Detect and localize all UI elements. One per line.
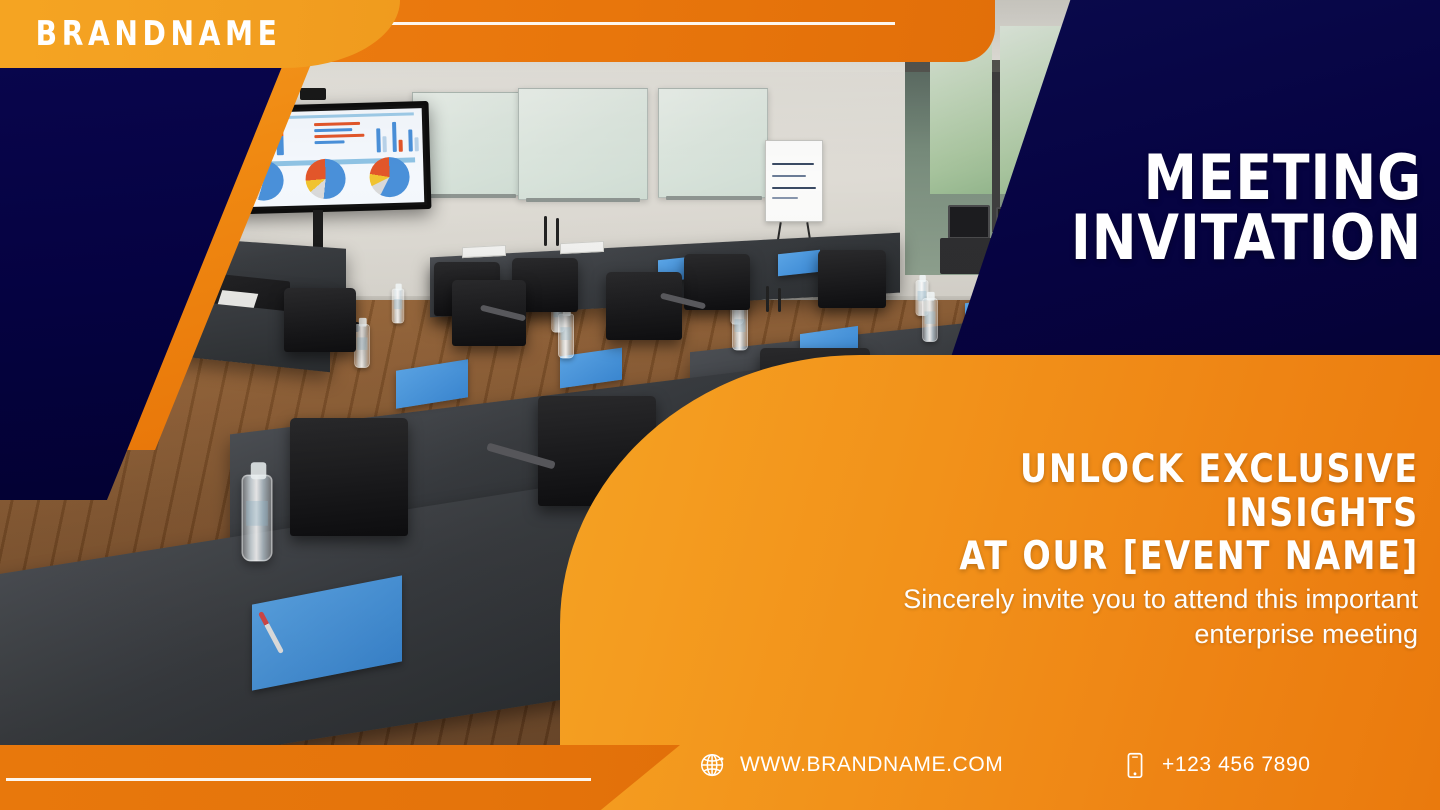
brand-name: BRANDNAME bbox=[36, 14, 282, 54]
phone-contact[interactable]: +123 456 7890 bbox=[1120, 750, 1311, 780]
title-line-2: INVITATION bbox=[1017, 208, 1422, 268]
phone-text: +123 456 7890 bbox=[1162, 753, 1311, 777]
headline-block: UNLOCK EXCLUSIVE INSIGHTS AT OUR [EVENT … bbox=[870, 448, 1440, 579]
brand-badge: BRANDNAME bbox=[0, 0, 400, 68]
globe-icon bbox=[698, 750, 728, 780]
headline-line-1: UNLOCK EXCLUSIVE INSIGHTS bbox=[870, 448, 1419, 535]
bottom-strip-rule bbox=[6, 778, 591, 781]
subtitle-block: Sincerely invite you to attend this impo… bbox=[790, 582, 1440, 652]
subtitle-line-1: Sincerely invite you to attend this impo… bbox=[790, 582, 1418, 617]
top-bar-rule bbox=[380, 22, 895, 25]
headline-line-2: AT OUR [EVENT NAME] bbox=[870, 535, 1419, 579]
title-line-1: MEETING bbox=[1017, 148, 1422, 208]
subtitle-line-2: enterprise meeting bbox=[790, 617, 1418, 652]
mobile-phone-icon bbox=[1120, 750, 1150, 780]
website-text: WWW.BRANDNAME.COM bbox=[740, 753, 1003, 777]
website-contact[interactable]: WWW.BRANDNAME.COM bbox=[698, 750, 1003, 780]
poster-canvas: BRANDNAME MEETING INVITATION UNLOCK EXCL… bbox=[0, 0, 1440, 810]
poster-title: MEETING INVITATION bbox=[1000, 148, 1440, 268]
